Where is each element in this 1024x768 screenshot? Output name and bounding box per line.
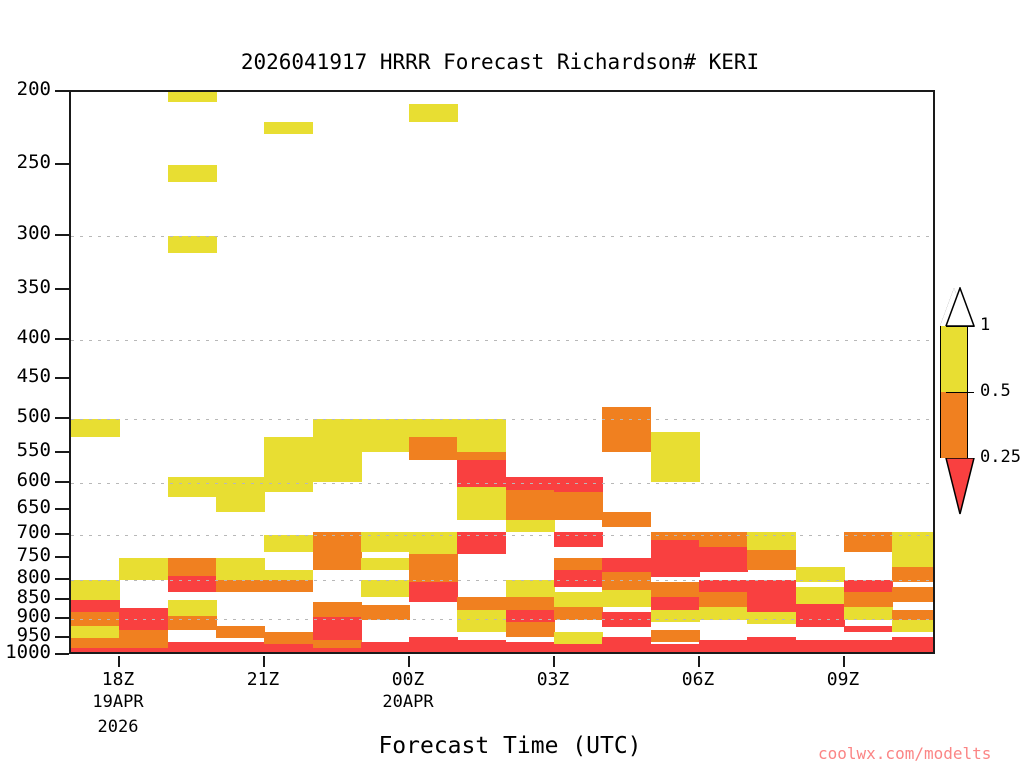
heatmap-cell bbox=[796, 587, 845, 604]
heatmap-cell bbox=[844, 580, 893, 592]
heatmap-cell bbox=[168, 558, 217, 576]
heatmap-cell bbox=[457, 620, 506, 632]
heatmap-cell bbox=[844, 626, 893, 632]
heatmap-cell bbox=[747, 612, 796, 624]
colorbar-label: 1 bbox=[980, 315, 990, 335]
heatmap-cell bbox=[361, 419, 410, 452]
y-axis-tick-label: 400 bbox=[17, 326, 51, 348]
x-axis-tick bbox=[553, 656, 555, 667]
heatmap-cell bbox=[554, 592, 603, 607]
heatmap-cell bbox=[168, 642, 217, 654]
y-axis-tick-label: 300 bbox=[17, 222, 51, 244]
y-axis-tick-label: 500 bbox=[17, 405, 51, 427]
heatmap-cell bbox=[361, 642, 410, 654]
heatmap-cell bbox=[313, 437, 362, 482]
heatmap-cell bbox=[168, 600, 217, 616]
grid-line bbox=[71, 483, 933, 484]
heatmap-cell bbox=[892, 532, 935, 567]
heatmap-cell bbox=[602, 637, 651, 654]
heatmap-cell bbox=[554, 570, 603, 587]
heatmap-cell bbox=[844, 640, 893, 654]
x-axis-date-label: 19APR bbox=[92, 692, 143, 712]
y-axis-tick bbox=[55, 451, 69, 453]
heatmap-cell bbox=[651, 644, 700, 654]
heatmap-cell bbox=[699, 547, 748, 572]
heatmap-cell bbox=[506, 610, 555, 622]
heatmap-cell bbox=[506, 597, 555, 610]
heatmap-cell bbox=[264, 122, 313, 134]
heatmap-cell bbox=[699, 640, 748, 654]
heatmap-cell bbox=[506, 622, 555, 637]
y-axis-tick-label: 200 bbox=[17, 78, 51, 100]
heatmap-cell bbox=[119, 630, 168, 648]
x-axis-date-label: 2026 bbox=[98, 717, 139, 737]
x-axis-tick-label: 00Z bbox=[392, 669, 425, 690]
heatmap-cell bbox=[892, 620, 935, 632]
y-axis-tick bbox=[55, 481, 69, 483]
heatmap-cell bbox=[168, 477, 217, 497]
colorbar-segment bbox=[940, 326, 968, 392]
x-axis-title: Forecast Time (UTC) bbox=[220, 733, 800, 759]
heatmap-cell bbox=[651, 540, 700, 577]
heatmap-cell bbox=[361, 605, 410, 620]
heatmap-cell bbox=[71, 600, 120, 612]
y-axis-tick-label: 650 bbox=[17, 496, 51, 518]
y-axis-tick-label: 600 bbox=[17, 469, 51, 491]
y-axis-tick-label: 550 bbox=[17, 439, 51, 461]
chart-title-text: 2026041917 HRRR Forecast Richardson# KER… bbox=[241, 50, 759, 74]
heatmap-cell bbox=[699, 592, 748, 607]
heatmap-cells bbox=[71, 92, 933, 652]
plot-area bbox=[69, 90, 935, 654]
colorbar-arrow-up-outline bbox=[945, 287, 975, 327]
heatmap-cell bbox=[264, 580, 313, 592]
heatmap-cell bbox=[457, 419, 506, 452]
heatmap-cell bbox=[264, 644, 313, 654]
heatmap-cell bbox=[506, 580, 555, 597]
y-axis-tick-label: 1000 bbox=[5, 641, 51, 663]
colorbar-segment bbox=[940, 392, 968, 458]
watermark: coolwx.com/modelts bbox=[818, 744, 991, 763]
heatmap-cell bbox=[71, 419, 120, 437]
heatmap-cell bbox=[216, 497, 265, 512]
y-axis: 2002503003504004505005506006507007508008… bbox=[0, 90, 69, 654]
heatmap-cell bbox=[796, 640, 845, 654]
heatmap-cell bbox=[264, 437, 313, 477]
heatmap-cell bbox=[119, 558, 168, 580]
y-axis-tick bbox=[55, 617, 69, 619]
heatmap-cell bbox=[313, 419, 362, 437]
heatmap-cell bbox=[409, 419, 458, 437]
heatmap-cell bbox=[361, 558, 410, 570]
grid-line bbox=[71, 580, 933, 581]
y-axis-tick bbox=[55, 598, 69, 600]
heatmap-cell bbox=[168, 236, 217, 253]
heatmap-cell bbox=[361, 580, 410, 597]
grid-line bbox=[71, 236, 933, 237]
colorbar-tick bbox=[946, 392, 974, 393]
heatmap-cell bbox=[168, 92, 217, 102]
heatmap-cell bbox=[216, 580, 265, 592]
heatmap-cell bbox=[602, 512, 651, 527]
heatmap-cell bbox=[747, 550, 796, 570]
heatmap-cell bbox=[844, 592, 893, 607]
heatmap-cell bbox=[264, 535, 313, 552]
y-axis-tick bbox=[55, 338, 69, 340]
chart-title: 2026041917 HRRR Forecast Richardson# KER… bbox=[0, 50, 1024, 74]
heatmap-cell bbox=[457, 487, 506, 520]
grid-line bbox=[71, 419, 933, 420]
heatmap-cell bbox=[409, 437, 458, 460]
heatmap-cell bbox=[796, 604, 845, 627]
y-axis-tick bbox=[55, 653, 69, 655]
heatmap-cell bbox=[71, 638, 120, 648]
heatmap-cell bbox=[71, 580, 120, 600]
grid-line bbox=[71, 340, 933, 341]
heatmap-cell bbox=[506, 520, 555, 532]
x-axis-tick bbox=[698, 656, 700, 667]
y-axis-tick-label: 800 bbox=[17, 566, 51, 588]
heatmap-cell bbox=[409, 104, 458, 122]
x-axis-date-label: 20APR bbox=[382, 692, 433, 712]
heatmap-cell bbox=[651, 532, 700, 540]
y-axis-tick bbox=[55, 578, 69, 580]
x-axis-tick bbox=[408, 656, 410, 667]
x-axis-tick-label: 18Z bbox=[102, 669, 135, 690]
heatmap-cell bbox=[313, 648, 362, 654]
y-axis-tick bbox=[55, 288, 69, 290]
heatmap-cell bbox=[409, 637, 458, 654]
heatmap-cell bbox=[168, 165, 217, 182]
colorbar-arrow-down bbox=[945, 458, 975, 516]
heatmap-cell bbox=[168, 576, 217, 592]
y-axis-tick-label: 750 bbox=[17, 544, 51, 566]
x-axis-tick-label: 09Z bbox=[827, 669, 860, 690]
heatmap-cell bbox=[313, 532, 362, 570]
x-axis-tick-label: 21Z bbox=[247, 669, 280, 690]
heatmap-cell bbox=[71, 648, 120, 654]
heatmap-cell bbox=[313, 640, 362, 648]
heatmap-cell bbox=[264, 570, 313, 580]
y-axis-tick-label: 350 bbox=[17, 276, 51, 298]
grid-line bbox=[71, 619, 933, 620]
heatmap-cell bbox=[602, 572, 651, 590]
heatmap-cell bbox=[651, 432, 700, 482]
x-axis-tick bbox=[843, 656, 845, 667]
heatmap-cell bbox=[602, 590, 651, 607]
heatmap-cell bbox=[264, 632, 313, 644]
y-axis-tick bbox=[55, 377, 69, 379]
y-axis-tick-label: 700 bbox=[17, 521, 51, 543]
y-axis-tick bbox=[55, 417, 69, 419]
heatmap-cell bbox=[602, 558, 651, 572]
heatmap-cell bbox=[651, 582, 700, 597]
heatmap-cell bbox=[892, 587, 935, 602]
heatmap-cell bbox=[506, 642, 555, 654]
x-axis-tick-label: 03Z bbox=[537, 669, 570, 690]
heatmap-cell bbox=[71, 626, 120, 638]
x-axis-tick-label: 06Z bbox=[682, 669, 715, 690]
heatmap-cell bbox=[457, 452, 506, 460]
heatmap-cell bbox=[313, 602, 362, 617]
heatmap-cell bbox=[409, 582, 458, 602]
y-axis-tick bbox=[55, 90, 69, 92]
heatmap-cell bbox=[651, 610, 700, 622]
heatmap-cell bbox=[119, 648, 168, 654]
y-axis-tick bbox=[55, 533, 69, 535]
heatmap-cell bbox=[457, 640, 506, 654]
colorbar-label: 0.25 bbox=[980, 447, 1021, 467]
x-axis-tick bbox=[118, 656, 120, 667]
heatmap-cell bbox=[747, 580, 796, 597]
heatmap-cell bbox=[313, 617, 362, 640]
y-axis-tick bbox=[55, 556, 69, 558]
grid-line bbox=[71, 535, 933, 536]
colorbar-tick bbox=[946, 326, 974, 327]
x-axis-tick bbox=[263, 656, 265, 667]
heatmap-cell bbox=[747, 597, 796, 612]
y-axis-tick bbox=[55, 508, 69, 510]
heatmap-cell bbox=[602, 407, 651, 452]
heatmap-cell bbox=[216, 642, 265, 654]
heatmap-cell bbox=[699, 580, 748, 592]
y-axis-tick-label: 250 bbox=[17, 151, 51, 173]
heatmap-cell bbox=[264, 477, 313, 492]
y-axis-tick-label: 450 bbox=[17, 365, 51, 387]
heatmap-cell bbox=[554, 558, 603, 570]
heatmap-cell bbox=[554, 644, 603, 654]
heatmap-cell bbox=[554, 492, 603, 520]
heatmap-cell bbox=[554, 632, 603, 644]
y-axis-tick bbox=[55, 636, 69, 638]
heatmap-cell bbox=[651, 630, 700, 642]
heatmap-cell bbox=[409, 554, 458, 582]
colorbar-label: 0.5 bbox=[980, 381, 1011, 401]
y-axis-tick bbox=[55, 234, 69, 236]
heatmap-cell bbox=[747, 637, 796, 654]
heatmap-cell bbox=[216, 558, 265, 580]
heatmap-cell bbox=[216, 477, 265, 497]
y-axis-tick bbox=[55, 163, 69, 165]
heatmap-cell bbox=[651, 597, 700, 610]
colorbar: 10.50.25 bbox=[940, 288, 1024, 498]
heatmap-cell bbox=[457, 597, 506, 610]
heatmap-cell bbox=[554, 477, 603, 492]
chart-canvas: 2026041917 HRRR Forecast Richardson# KER… bbox=[0, 0, 1024, 768]
heatmap-cell bbox=[216, 626, 265, 638]
heatmap-cell bbox=[506, 490, 555, 520]
heatmap-cell bbox=[892, 637, 935, 654]
